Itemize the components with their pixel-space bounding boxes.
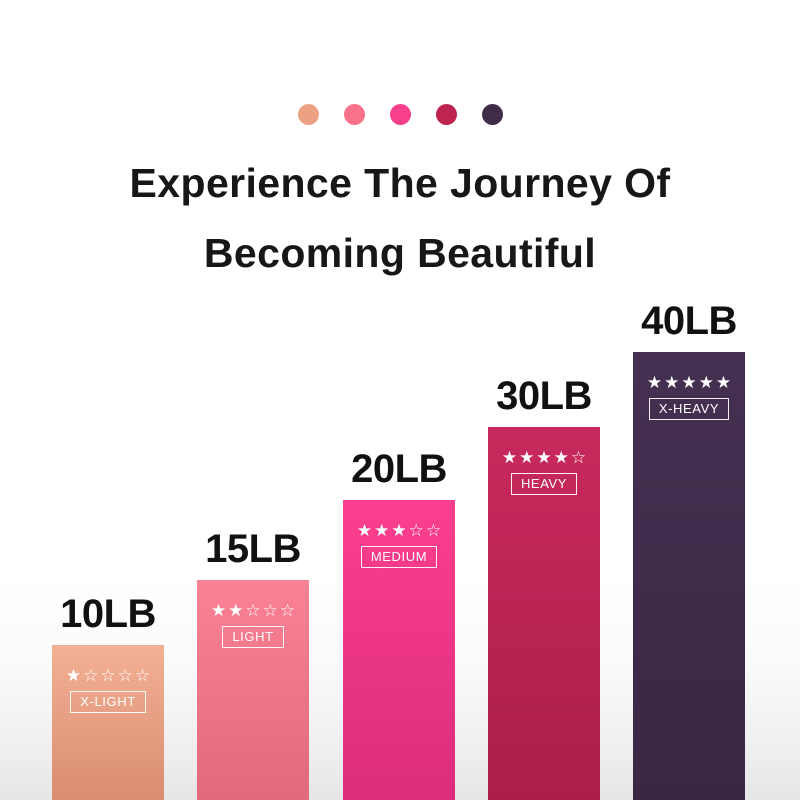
- star-empty-icon: ☆: [245, 602, 260, 619]
- star-empty-icon: ☆: [118, 667, 133, 684]
- bar-value-label: 40LB: [633, 301, 745, 341]
- star-filled-icon: ★: [664, 374, 679, 391]
- star-filled-icon: ★: [681, 374, 696, 391]
- level-badge: MEDIUM: [361, 546, 437, 568]
- star-filled-icon: ★: [519, 449, 534, 466]
- star-filled-icon: ★: [699, 374, 714, 391]
- star-filled-icon: ★: [357, 522, 372, 539]
- bar: ★★★★★X-HEAVY: [633, 352, 745, 800]
- bar-group-heavy: 30LB★★★★☆HEAVY: [488, 427, 600, 800]
- star-empty-icon: ☆: [100, 667, 115, 684]
- star-rating: ★★★★★: [647, 374, 731, 391]
- level-badge: LIGHT: [222, 626, 283, 648]
- resistance-band-bar-chart: 10LB★☆☆☆☆X-LIGHT15LB★★☆☆☆LIGHT20LB★★★☆☆M…: [0, 0, 800, 800]
- bar-value-label: 30LB: [488, 376, 600, 416]
- star-empty-icon: ☆: [571, 449, 586, 466]
- star-rating: ★☆☆☆☆: [66, 667, 150, 684]
- bar-group-x-heavy: 40LB★★★★★X-HEAVY: [633, 352, 745, 800]
- star-rating: ★★★★☆: [502, 449, 586, 466]
- star-filled-icon: ★: [66, 667, 81, 684]
- bar-group-medium: 20LB★★★☆☆MEDIUM: [343, 500, 455, 800]
- star-filled-icon: ★: [647, 374, 662, 391]
- level-badge: HEAVY: [511, 473, 577, 495]
- star-rating: ★★☆☆☆: [211, 602, 295, 619]
- bar-value-label: 20LB: [343, 449, 455, 489]
- star-empty-icon: ☆: [426, 522, 441, 539]
- bar: ★★★★☆HEAVY: [488, 427, 600, 800]
- bar-value-label: 10LB: [52, 594, 164, 634]
- star-filled-icon: ★: [391, 522, 406, 539]
- star-filled-icon: ★: [536, 449, 551, 466]
- star-rating: ★★★☆☆: [357, 522, 441, 539]
- star-filled-icon: ★: [502, 449, 517, 466]
- star-empty-icon: ☆: [409, 522, 424, 539]
- star-empty-icon: ☆: [280, 602, 295, 619]
- bar-group-x-light: 10LB★☆☆☆☆X-LIGHT: [52, 645, 164, 800]
- level-badge: X-LIGHT: [70, 691, 145, 713]
- bar: ★★★☆☆MEDIUM: [343, 500, 455, 800]
- star-filled-icon: ★: [228, 602, 243, 619]
- star-empty-icon: ☆: [135, 667, 150, 684]
- bar-group-light: 15LB★★☆☆☆LIGHT: [197, 580, 309, 800]
- bar: ★★☆☆☆LIGHT: [197, 580, 309, 800]
- star-filled-icon: ★: [374, 522, 389, 539]
- promo-poster: Experience The Journey Of Becoming Beaut…: [0, 0, 800, 800]
- bar-value-label: 15LB: [197, 529, 309, 569]
- level-badge: X-HEAVY: [649, 398, 729, 420]
- star-filled-icon: ★: [716, 374, 731, 391]
- star-filled-icon: ★: [554, 449, 569, 466]
- star-empty-icon: ☆: [263, 602, 278, 619]
- bar: ★☆☆☆☆X-LIGHT: [52, 645, 164, 800]
- star-filled-icon: ★: [211, 602, 226, 619]
- star-empty-icon: ☆: [83, 667, 98, 684]
